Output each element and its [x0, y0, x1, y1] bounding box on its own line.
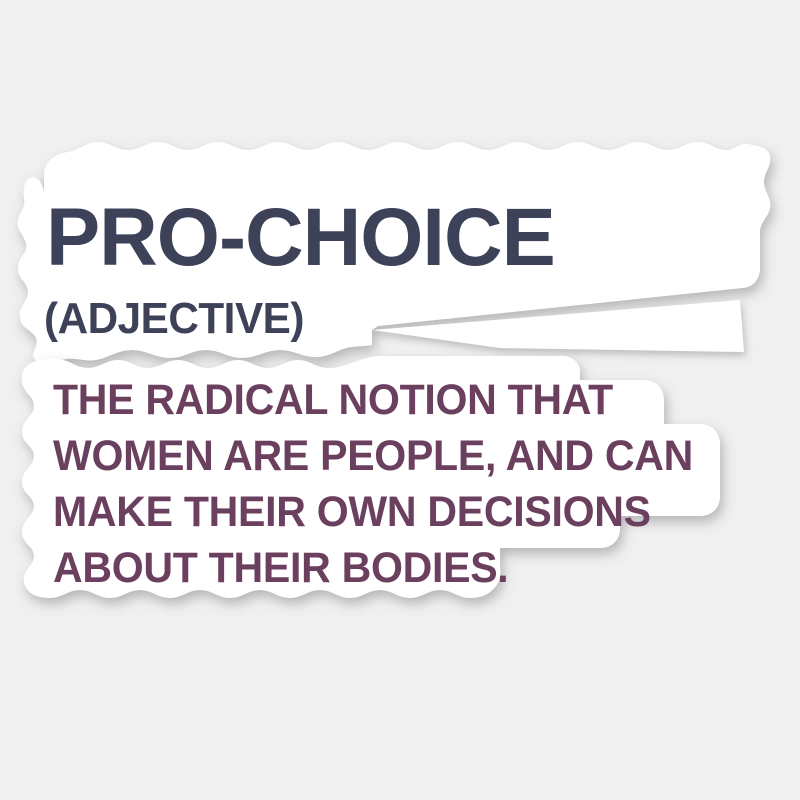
sticker-graphic	[0, 0, 800, 800]
sticker-lower-panel	[22, 356, 720, 598]
